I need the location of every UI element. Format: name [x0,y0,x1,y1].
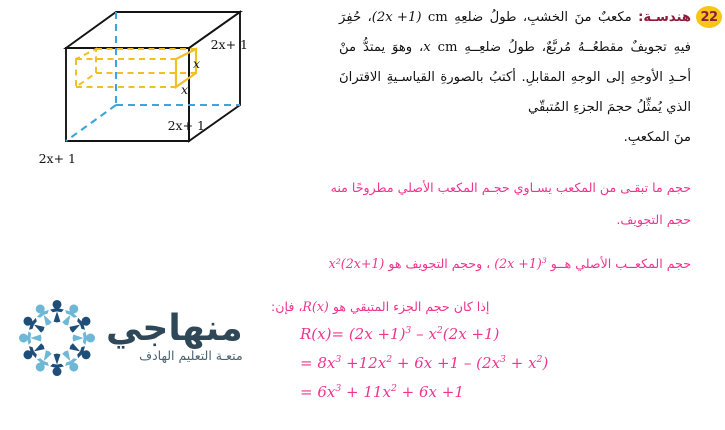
label-right-vertical: 2x+ 1 [211,37,248,52]
statement-text-1: مكعبٌ منَ الخشبِ، طولُ ضلعِهِ [448,10,638,25]
manhaji-logo-mark [14,295,100,381]
problem-keyword: هندسـة [643,10,691,25]
solution-paragraph-line-1: حجم ما تبقـى من المكعب يسـاوي حجـم المكع… [331,180,691,195]
remaining-volume-symbol: R(x) [302,295,328,319]
label-hole-height: x [193,56,200,71]
solution-equations: R(x)= (2x +1)3 – x2(2x +1) = 8x3 +12x2 +… [300,318,700,405]
side-length-expression: (2x +1) [372,3,422,33]
cube-diagram: 2x+ 1 2x+ 1 2x+ 1 x x [8,2,368,177]
logo-tagline: متعـة التعليم الهادف [106,349,243,362]
textbook-page: 22 هندسـة: مكعبٌ منَ الخشبِ، طولُ ضلعِهِ… [0,0,725,430]
logo-figure-ring [19,300,95,376]
hole-back-opening [76,49,96,87]
equation-row-3: = 6x3 + 11x2 + 6x +1 [300,376,700,405]
cube-diagram-svg: 2x+ 1 2x+ 1 2x+ 1 x x [8,2,368,177]
problem-number-badge: 22 [696,6,722,28]
intro-suffix: ، فإن: [271,299,302,314]
volumes-middle-text: ، وحجم التجويف هو [384,256,494,271]
solution-paragraph: حجم ما تبقـى من المكعب يسـاوي حجـم المكع… [191,172,691,236]
original-cube-volume-expression: (2x +1)3 [494,248,546,277]
problem-statement: هندسـة: مكعبٌ منَ الخشبِ، طولُ ضلعِهِ cm… [339,3,691,153]
label-bottom-right: 2x+ 1 [168,118,205,133]
logo-wordmark: منهاجي [106,310,243,348]
hole-volume-expression: x²(2x+1) [329,251,385,277]
volumes-prefix: حجم المكعــب الأصلي هــو [547,256,691,271]
equation-1-lhs: R(x) [300,325,331,343]
unit-cm-2: cm [438,33,458,63]
statement-text-4: منَ المكعبِ. [339,123,691,153]
solution-intro-line: إذا كان حجم الجزء المتبقي هو R(x)، فإن: [271,295,691,319]
label-hole-width: x [181,82,188,97]
solution-volumes-line: حجم المكعــب الأصلي هــو (2x +1)3 ، وحجم… [191,248,691,277]
label-bottom-front: 2x+ 1 [39,151,76,166]
cube-hole-hidden [76,49,196,87]
logo-text-block: منهاجي متعـة التعليم الهادف [106,310,243,367]
manhaji-logo: منهاجي متعـة التعليم الهادف [14,292,266,384]
intro-prefix: إذا كان حجم الجزء المتبقي هو [329,299,490,314]
hole-side-expression: x [423,33,430,63]
problem-number-label: 22 [700,10,717,25]
equation-row-1: R(x)= (2x +1)3 – x2(2x +1) [300,318,700,347]
equation-row-2: = 8x3 +12x2 + 6x +1 – (2x3 + x2) [300,347,700,376]
unit-cm-1: cm [428,3,448,33]
hidden-edge-diagonal [66,105,116,141]
solution-paragraph-line-2: حجم التجويف. [191,204,691,236]
